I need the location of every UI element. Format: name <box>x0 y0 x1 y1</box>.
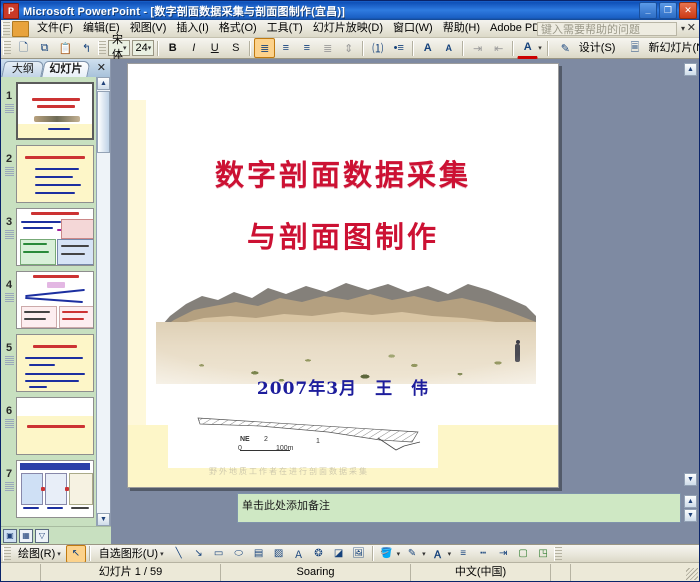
thumbnail-number-label: 7 <box>2 468 16 480</box>
toolbar-separator <box>362 41 364 56</box>
layout-glyph <box>5 293 14 302</box>
new-icon[interactable]: 🗋 <box>13 38 34 58</box>
menu-tools[interactable]: 工具(T) <box>262 20 308 37</box>
underline-button[interactable]: U <box>204 38 225 58</box>
font-color-icon[interactable]: Ａ <box>428 545 448 563</box>
cross-section-drawing <box>168 416 438 468</box>
menu-help[interactable]: 帮助(H) <box>438 20 485 37</box>
fill-color-icon[interactable]: 🪣 <box>377 545 397 563</box>
tab-slides[interactable]: 幻灯片 <box>41 61 90 77</box>
tab-slides-label: 幻灯片 <box>44 62 88 77</box>
increase-indent-button[interactable]: ⇥ <box>467 38 488 58</box>
slide-canvas[interactable]: 数字剖面数据采集 与剖面图制作 2007年3月 王 伟 <box>127 63 559 488</box>
line-icon[interactable]: ╲ <box>169 545 189 563</box>
bold-button[interactable]: B <box>162 38 183 58</box>
vertical-text-box-icon[interactable]: ▨ <box>269 545 289 563</box>
toolbar-grip-1[interactable] <box>3 41 11 55</box>
thumbnail-number-label: 6 <box>2 405 16 417</box>
thumbnail-number: 2 <box>2 145 16 176</box>
paste-icon[interactable]: 📋 <box>55 38 76 58</box>
layout-glyph <box>5 419 14 428</box>
scroll-up-icon[interactable]: ▲ <box>97 77 110 90</box>
tab-outline[interactable]: 大纲 <box>1 61 44 77</box>
window-title: Microsoft PowerPoint - [数字剖面数据采集与剖面图制作(宜… <box>23 3 345 19</box>
drawbar-separator <box>89 546 91 561</box>
dash-style-icon[interactable]: ┅ <box>473 545 493 563</box>
thumbnail-number: 7 <box>2 460 16 491</box>
chevron-down-icon[interactable]: ▾ <box>57 550 63 558</box>
thumbnail-number-label: 3 <box>2 216 16 228</box>
thumbnail-slide-7[interactable] <box>16 460 94 518</box>
notes-scroll-up-icon[interactable]: ▲ <box>684 495 697 508</box>
text-box-icon[interactable]: ▤ <box>249 545 269 563</box>
menu-slideshow[interactable]: 幻灯片放映(D) <box>308 20 388 37</box>
toolbar-separator <box>157 41 159 56</box>
list-item[interactable]: 7 <box>1 455 97 518</box>
shadow-button[interactable]: S <box>225 38 246 58</box>
thumbnail-scrollbar[interactable]: ▲ ▼ <box>96 77 110 526</box>
thumbnail-number: 6 <box>2 397 16 428</box>
arrow-icon[interactable]: ↘ <box>189 545 209 563</box>
menu-grip[interactable] <box>2 22 10 36</box>
thumbnail-slide-2[interactable] <box>16 145 94 203</box>
thumbnail-number-label: 1 <box>2 90 16 102</box>
thumbnail-list[interactable]: 1 2 <box>1 77 97 526</box>
design-template-name: Soaring <box>221 564 411 581</box>
scroll-down-icon[interactable]: ▼ <box>97 513 110 526</box>
bullets-button[interactable]: •≡ <box>388 38 409 58</box>
font-name-combo[interactable]: 宋体 ▾ <box>108 40 130 56</box>
copy-icon[interactable]: ⧉ <box>34 38 55 58</box>
list-item[interactable]: 6 <box>1 392 97 455</box>
align-left-button[interactable]: ≣ <box>254 38 275 58</box>
drawbar-grip[interactable] <box>3 547 11 561</box>
thumbnail-slide-6[interactable] <box>16 397 94 455</box>
toolbar-grip-2[interactable] <box>98 41 106 55</box>
line-color-icon[interactable]: ✎ <box>402 545 422 563</box>
notes-scroll-down-icon[interactable]: ▼ <box>684 509 697 522</box>
resize-grip[interactable] <box>686 568 698 580</box>
formatting-toolbar: 🗋 ⧉ 📋 ↰ 宋体 ▾ 24 ▾ B I U S ≣ ≡ ≡ ≣ ⇕ ⑴ •≡… <box>1 38 699 59</box>
menu-file[interactable]: 文件(F) <box>32 20 78 37</box>
close-document-icon[interactable]: ✕ <box>687 22 696 35</box>
slide-counter: 幻灯片 1 / 59 <box>41 564 221 581</box>
wordart-icon[interactable]: Ａ <box>289 545 309 563</box>
drawing-toolbar: 绘图(R) ▾ ↖ 自选图形(U) ▾ ╲ ↘ ▭ ⬭ ▤ ▨ Ａ ❂ ◪ 🖼 … <box>1 544 699 562</box>
slide-caption: 野外地质工作者在进行剖面数据采集 <box>164 466 414 477</box>
arrow-style-icon[interactable]: ⇥ <box>493 545 513 563</box>
work-area: 大纲 幻灯片 ✕ 1 <box>1 59 699 544</box>
slide-title-line-1[interactable]: 数字剖面数据采集 <box>128 152 558 194</box>
picture-icon[interactable]: 🖼 <box>349 545 369 563</box>
desert-landscape-photo <box>156 264 536 384</box>
layout-glyph <box>5 356 14 365</box>
design-label: 设计(S) <box>576 39 619 57</box>
design-icon: ✎ <box>555 38 576 58</box>
chevron-down-icon[interactable]: ▾ <box>681 24 685 33</box>
slide-editing-area: 数字剖面数据采集 与剖面图制作 2007年3月 王 伟 <box>111 59 699 544</box>
rectangle-icon[interactable]: ▭ <box>209 545 229 563</box>
layout-glyph <box>5 230 14 239</box>
tab-outline-label: 大纲 <box>4 62 42 77</box>
slide-scroll-down-icon[interactable]: ▼ <box>684 473 697 486</box>
menu-insert[interactable]: 插入(I) <box>171 20 213 37</box>
layout-glyph <box>5 482 14 491</box>
thumbnail-number-label: 5 <box>2 342 16 354</box>
thumbnail-number-label: 2 <box>2 153 16 165</box>
align-center-button[interactable]: ≡ <box>275 38 296 58</box>
layout-glyph <box>5 104 14 113</box>
decrease-indent-button[interactable]: ⇤ <box>488 38 509 58</box>
sketch-label-direction: NE <box>240 436 250 443</box>
design-button[interactable]: ✎ 设计(S) <box>552 38 622 58</box>
menu-window[interactable]: 窗口(W) <box>388 20 438 37</box>
undo-icon[interactable]: ↰ <box>76 38 97 58</box>
font-size-combo[interactable]: 24 ▾ <box>132 40 155 56</box>
menu-format[interactable]: 格式(O) <box>214 20 262 37</box>
line-spacing-button[interactable]: ⇕ <box>338 38 359 58</box>
list-item[interactable]: 1 <box>1 77 97 140</box>
select-objects-icon[interactable]: ↖ <box>66 545 86 563</box>
new-slide-label: 新幻灯片(N) <box>645 39 700 57</box>
view-slide-sorter-button[interactable]: ▦ <box>19 529 33 543</box>
3d-style-icon[interactable]: ◳ <box>533 545 553 563</box>
list-item[interactable]: 4 <box>1 266 97 329</box>
chevron-down-icon[interactable]: ▾ <box>160 550 166 558</box>
align-right-button[interactable]: ≡ <box>296 38 317 58</box>
geologic-cross-section-sketch: NE 2 1 0 100m <box>168 416 438 468</box>
toolbar-separator <box>462 41 464 56</box>
view-buttons: ▣ ▦ ▽ <box>1 526 111 544</box>
view-normal-button[interactable]: ▣ <box>3 529 17 543</box>
maximize-button[interactable]: ❐ <box>659 2 677 19</box>
chevron-down-icon[interactable]: ▾ <box>538 44 544 52</box>
pane-tabs: 大纲 幻灯片 ✕ <box>1 59 110 78</box>
drawbar-overflow[interactable] <box>554 547 562 561</box>
list-item[interactable]: 3 <box>1 203 97 266</box>
app-icon: P <box>3 3 19 19</box>
diagram-icon[interactable]: ❂ <box>309 545 329 563</box>
notes-placeholder: 单击此处添加备注 <box>242 500 330 512</box>
sketch-label-unit-1: 1 <box>316 438 320 445</box>
language-indicator[interactable]: 中文(中国) <box>411 564 551 581</box>
font-size-value: 24 <box>136 41 148 56</box>
thumbnail-number-label: 4 <box>2 279 16 291</box>
new-slide-icon: 🗏 <box>624 38 645 58</box>
draw-menu-button[interactable]: 绘图(R) ▾ <box>13 544 66 564</box>
menu-view[interactable]: 视图(V) <box>125 20 172 37</box>
powerpoint-window: P Microsoft PowerPoint - [数字剖面数据采集与剖面图制作… <box>0 0 700 582</box>
close-pane-icon[interactable]: ✕ <box>97 61 106 75</box>
autoshapes-menu-button[interactable]: 自选图形(U) ▾ <box>94 544 169 564</box>
sketch-label-unit-2: 2 <box>264 436 268 443</box>
toolbar-separator <box>412 41 414 56</box>
increase-font-size-button[interactable]: A <box>417 38 438 58</box>
chevron-down-icon[interactable]: ▾ <box>422 550 428 558</box>
draw-label: 绘图(R) <box>16 546 57 562</box>
thumbnail-slide-4[interactable] <box>16 271 94 329</box>
chevron-down-icon[interactable]: ▾ <box>148 41 154 56</box>
numbering-button[interactable]: ⑴ <box>367 38 388 58</box>
notes-pane[interactable]: 单击此处添加备注 <box>237 493 681 523</box>
thumbnail-number: 1 <box>2 82 16 113</box>
toolbar-separator <box>249 41 251 56</box>
drawbar-separator <box>372 546 374 561</box>
clip-art-icon[interactable]: ◪ <box>329 545 349 563</box>
decrease-font-size-button[interactable]: A <box>438 38 459 58</box>
slide-title-line-2[interactable]: 与剖面图制作 <box>128 214 558 256</box>
window-controls: _ ❐ ✕ <box>639 2 697 19</box>
slides-pane: 大纲 幻灯片 ✕ 1 <box>1 59 111 544</box>
title-bar: P Microsoft PowerPoint - [数字剖面数据采集与剖面图制作… <box>1 1 699 20</box>
list-item[interactable]: 5 <box>1 329 97 392</box>
thumbnail-number: 3 <box>2 208 16 239</box>
scrollbar-thumb[interactable] <box>97 91 110 153</box>
font-color-button[interactable]: A <box>517 37 538 59</box>
toolbar-separator <box>547 41 549 56</box>
menu-bar: 文件(F) 编辑(E) 视图(V) 插入(I) 格式(O) 工具(T) 幻灯片放… <box>1 20 699 38</box>
thumbnail-slide-1[interactable] <box>16 82 94 140</box>
close-button[interactable]: ✕ <box>679 2 697 19</box>
thumbnail-number: 5 <box>2 334 16 365</box>
new-slide-button[interactable]: 🗏 新幻灯片(N) <box>621 38 700 58</box>
slide-author-line[interactable]: 2007年3月 王 伟 <box>128 374 558 399</box>
status-bar: 幻灯片 1 / 59 Soaring 中文(中国) <box>1 562 699 581</box>
autoshapes-label: 自选图形(U) <box>97 546 160 562</box>
layout-glyph <box>5 167 14 176</box>
document-icon <box>12 21 29 37</box>
list-item[interactable]: 2 <box>1 140 97 203</box>
thumbnail-slide-3[interactable] <box>16 208 94 266</box>
oval-icon[interactable]: ⬭ <box>229 545 249 563</box>
italic-button[interactable]: I <box>183 38 204 58</box>
view-slideshow-button[interactable]: ▽ <box>35 529 49 543</box>
line-style-icon[interactable]: ≡ <box>453 545 473 563</box>
minimize-button[interactable]: _ <box>639 2 657 19</box>
slide-scroll-up-icon[interactable]: ▲ <box>684 63 697 76</box>
thumbnail-number: 4 <box>2 271 16 302</box>
help-search-input[interactable]: 键入需要帮助的问题 <box>537 22 677 36</box>
thumbnail-slide-5[interactable] <box>16 334 94 392</box>
toolbar-separator <box>512 41 514 56</box>
chevron-down-icon[interactable]: ▾ <box>123 41 129 56</box>
justify-button[interactable]: ≣ <box>317 38 338 58</box>
shadow-style-icon[interactable]: ▢ <box>513 545 533 563</box>
